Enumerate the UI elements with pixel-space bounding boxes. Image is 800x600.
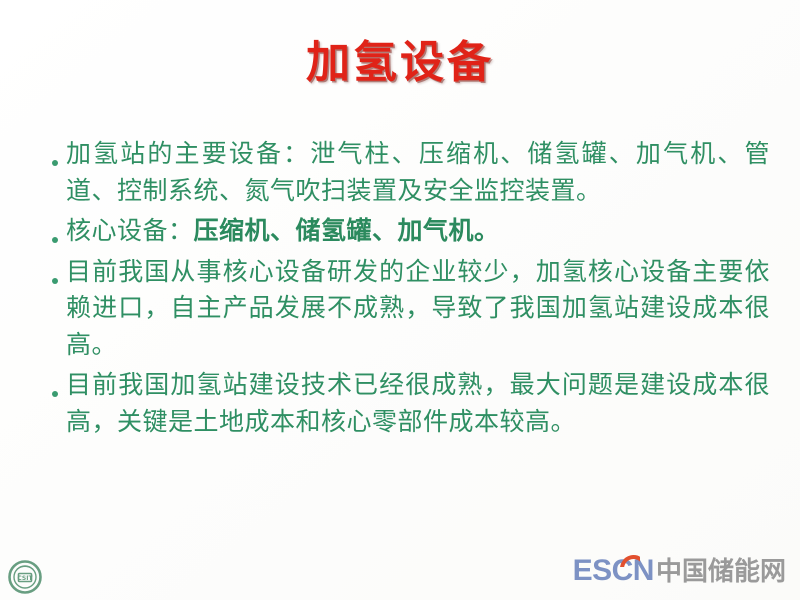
svg-text:CSIT: CSIT [17, 575, 33, 582]
slide-canvas: 加氢设备 加氢站的主要设备：泄气柱、压缩机、储氢罐、加气机、管道、控制系统、氮气… [0, 0, 800, 600]
watermark-chinese-label: 中国储能网 [656, 551, 786, 588]
watermark-latin-text: ESCN [573, 554, 654, 588]
bullet-list: 加氢站的主要设备：泄气柱、压缩机、储氢罐、加气机、管道、控制系统、氮气吹扫装置及… [40, 136, 770, 444]
list-item-lead: 目前我国加氢站建设技术已经很成熟，最大问题是建设成本很高，关键是土地成本和核心零… [66, 370, 770, 436]
list-item-lead: 核心设备： [66, 216, 194, 245]
page-title: 加氢设备 [306, 38, 494, 89]
bullet-dot-icon [40, 367, 66, 401]
watermark-latin-label: ESCN [573, 554, 654, 587]
list-item-text: 核心设备：压缩机、储氢罐、加气机。 [66, 213, 770, 250]
list-item-lead: 加氢站的主要设备：泄气柱、压缩机、储氢罐、加气机、管道、控制系统、氮气吹扫装置及… [66, 139, 770, 205]
list-item-text: 加氢站的主要设备：泄气柱、压缩机、储氢罐、加气机、管道、控制系统、氮气吹扫装置及… [66, 136, 770, 209]
watermark: ESCN 中国储能网 [573, 551, 786, 588]
bullet-dot-icon [40, 136, 66, 170]
bullet-dot-icon [40, 213, 66, 247]
list-item-lead: 目前我国从事核心设备研发的企业较少，加氢核心设备主要依赖进口，自主产品发展不成熟… [66, 257, 770, 359]
list-item: 核心设备：压缩机、储氢罐、加气机。 [40, 213, 770, 250]
list-item: 目前我国加氢站建设技术已经很成熟，最大问题是建设成本很高，关键是土地成本和核心零… [40, 367, 770, 440]
list-item-emphasis: 压缩机、储氢罐、加气机。 [194, 216, 500, 245]
list-item: 加氢站的主要设备：泄气柱、压缩机、储氢罐、加气机、管道、控制系统、氮气吹扫装置及… [40, 136, 770, 209]
bullet-dot-icon [40, 254, 66, 288]
csit-seal-icon: CSIT [8, 560, 42, 594]
title-area: 加氢设备 [0, 38, 800, 89]
list-item-text: 目前我国从事核心设备研发的企业较少，加氢核心设备主要依赖进口，自主产品发展不成熟… [66, 254, 770, 364]
list-item-text: 目前我国加氢站建设技术已经很成熟，最大问题是建设成本很高，关键是土地成本和核心零… [66, 367, 770, 440]
list-item: 目前我国从事核心设备研发的企业较少，加氢核心设备主要依赖进口，自主产品发展不成熟… [40, 254, 770, 364]
